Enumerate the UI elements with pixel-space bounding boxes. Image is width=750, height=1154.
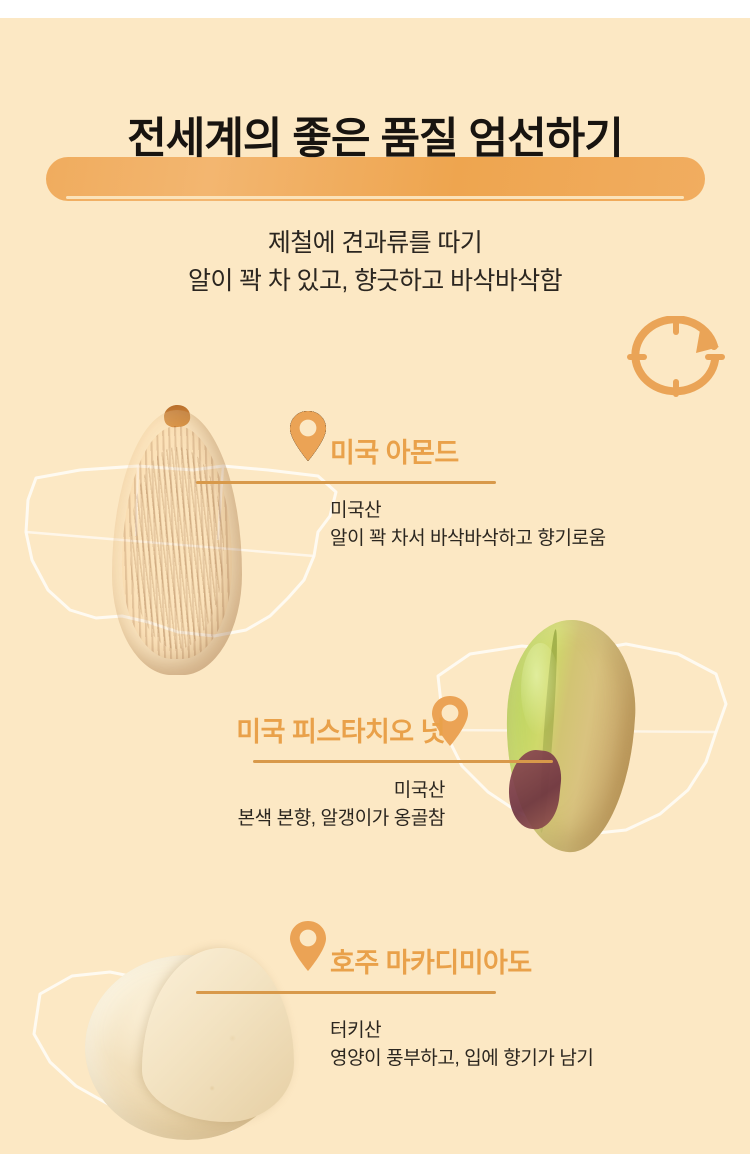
almond-photo: [112, 410, 242, 675]
header-section: 전세계의 좋은 품질 엄선하기 제철에 견과류를 따기 알이 꽉 차 있고, 향…: [0, 18, 750, 218]
subtitle-line-2: 알이 꽉 차 있고, 향긋하고 바삭바삭함: [0, 262, 750, 300]
entry-detail: 본색 본향, 알갱이가 옹골참: [238, 805, 445, 833]
entry-divider: [253, 760, 553, 763]
entry-origin: 터키산: [330, 1017, 594, 1045]
entry-divider: [196, 991, 496, 994]
macadamia-photo: [85, 955, 290, 1140]
entry-divider: [196, 481, 496, 484]
page-subtitle: 제철에 견과류를 따기 알이 꽉 차 있고, 향긋하고 바삭바삭함: [0, 224, 750, 300]
macadamia-speckles: [85, 955, 290, 1140]
pistachio-highlight: [521, 643, 559, 736]
page-title: 전세계의 좋은 품질 엄선하기: [0, 104, 750, 166]
subtitle-line-1: 제철에 견과류를 따기: [0, 224, 750, 262]
title-bar-highlight-line: [66, 196, 684, 199]
map-pin-icon: [288, 409, 328, 463]
entry-origin: 미국산: [330, 497, 606, 525]
entry-label: 미국 아몬드: [330, 431, 459, 470]
entry-description: 미국산 본색 본향, 알갱이가 옹골참: [238, 777, 445, 833]
entry-label: 호주 마카디미아도: [330, 941, 532, 980]
entry-origin: 미국산: [238, 777, 445, 805]
circular-refresh-icon: [622, 316, 730, 398]
entry-detail: 영양이 풍부하고, 입에 향기가 남기: [330, 1045, 594, 1073]
top-white-strip: [0, 0, 750, 18]
entry-description: 터키산 영양이 풍부하고, 입에 향기가 남기: [330, 1017, 594, 1073]
entry-detail: 알이 꽉 차서 바삭바삭하고 향기로움: [330, 525, 606, 553]
infographic-page: 전세계의 좋은 품질 엄선하기 제철에 견과류를 따기 알이 꽉 차 있고, 향…: [0, 0, 750, 1154]
entry-label: 미국 피스타치오 넛: [236, 710, 445, 749]
entry-description: 미국산 알이 꽉 차서 바삭바삭하고 향기로움: [330, 497, 606, 553]
pistachio-photo: [506, 620, 634, 852]
map-pin-icon: [288, 919, 328, 973]
almond-grain-texture-inner: [130, 447, 224, 648]
